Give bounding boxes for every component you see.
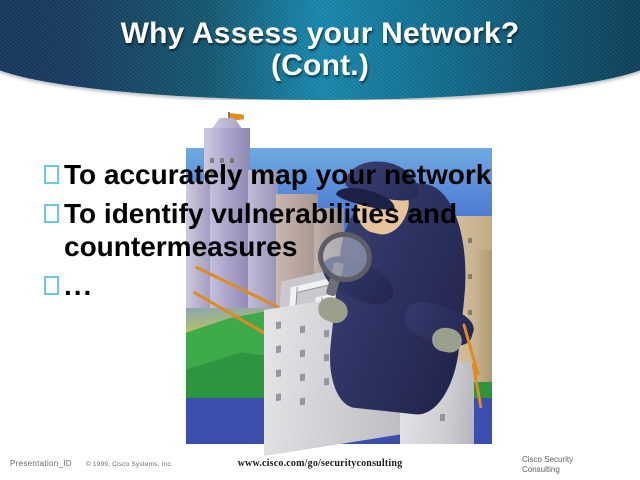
list-item: To accurately map your network: [44, 158, 604, 191]
missing-glyph-box-icon: [44, 204, 59, 223]
slide-canvas: Why Assess your Network? (Cont.): [0, 0, 640, 480]
page-title-line-1: Why Assess your Network?: [0, 18, 640, 50]
bullet-text: To accurately map your network: [64, 158, 491, 191]
slide-footer: Presentation_ID © 1999, Cisco Systems, I…: [0, 452, 640, 480]
footer-business-unit-line-1: Cisco Security: [522, 455, 573, 465]
footer-business-unit: Cisco Security Consulting: [522, 455, 573, 475]
missing-glyph-box-icon: [44, 165, 59, 184]
missing-glyph-box-icon: [44, 276, 59, 295]
list-item: To identify vulnerabilities and counterm…: [44, 197, 604, 263]
bullet-text: To identify vulnerabilities and counterm…: [64, 197, 604, 263]
footer-business-unit-line-2: Consulting: [522, 465, 573, 475]
list-item: ...: [44, 269, 604, 302]
bullet-list: To accurately map your network To identi…: [44, 158, 604, 308]
page-title: Why Assess your Network? (Cont.): [0, 18, 640, 82]
page-title-line-2: (Cont.): [0, 50, 640, 82]
bullet-text: ...: [64, 269, 93, 302]
